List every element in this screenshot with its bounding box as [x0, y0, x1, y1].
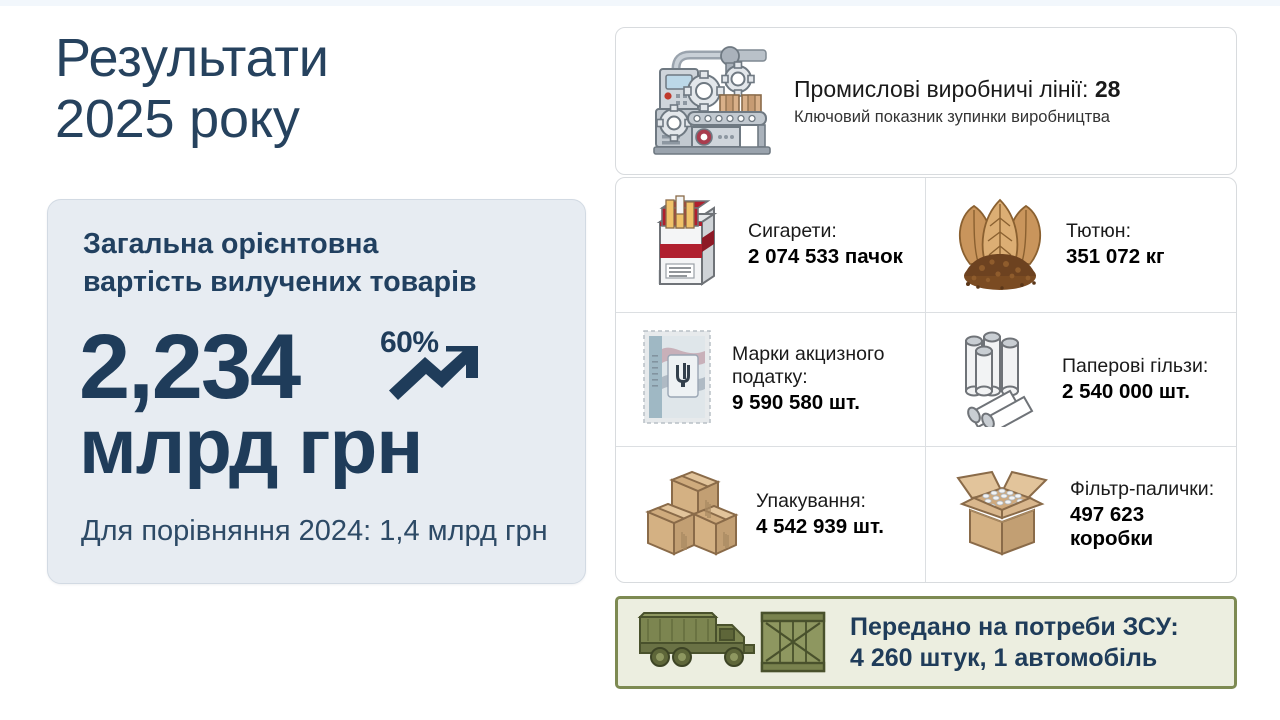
stat-label: Упакування:	[756, 490, 917, 513]
right-column: Промислові виробничі лінії: 28 Ключовий …	[613, 0, 1280, 720]
stat-label: Фільтр-палички:	[1070, 478, 1228, 501]
stat-text: Марки акцизного податку: 9 590 580 шт.	[732, 343, 925, 416]
stat-value: 4 542 939 шт.	[756, 515, 917, 540]
stat-label: Паперові гільзи:	[1062, 355, 1228, 378]
tobacco-leaf-icon	[948, 188, 1052, 301]
wooden-crate-icon	[762, 613, 824, 671]
stat-label: Сигарети:	[748, 220, 917, 243]
total-value-unit: млрд грн	[79, 406, 422, 486]
stat-text: Тютюн: 351 072 кг	[1066, 220, 1236, 270]
production-lines-subtitle: Ключовий показник зупинки виробництва	[794, 108, 1220, 128]
paper-tubes-icon	[948, 327, 1048, 432]
stat-cell-tobacco: Тютюн: 351 072 кг	[926, 178, 1236, 313]
production-lines-value: 28	[1095, 76, 1121, 102]
stat-text: Паперові гільзи: 2 540 000 шт.	[1062, 355, 1236, 405]
production-lines-card: Промислові виробничі лінії: 28 Ключовий …	[615, 27, 1237, 175]
stat-cell-cigarettes: Сигарети: 2 074 533 пачок	[616, 178, 926, 313]
army-donation-line1: Передано на потреби ЗСУ:	[850, 612, 1234, 643]
factory-production-line-icon	[646, 39, 774, 164]
stat-label: Тютюн:	[1066, 220, 1228, 243]
stat-label: Марки акцизного податку:	[732, 343, 917, 389]
stat-cell-excise-stamps: Марки акцизного податку: 9 590 580 шт.	[616, 313, 926, 448]
page-title: Результати 2025 року	[55, 28, 575, 150]
army-donation-line2: 4 260 штук, 1 автомобіль	[850, 643, 1234, 674]
value-card-title: Загальна орієнтовна вартість вилучених т…	[83, 226, 583, 301]
filter-sticks-box-icon	[948, 462, 1056, 567]
military-truck-icon	[640, 613, 754, 653]
army-donation-banner: Передано на потреби ЗСУ: 4 260 штук, 1 а…	[615, 596, 1237, 689]
stat-value: 351 072 кг	[1066, 245, 1228, 270]
stat-cell-paper-tubes: Паперові гільзи: 2 540 000 шт.	[926, 313, 1236, 448]
army-donation-text: Передано на потреби ЗСУ: 4 260 штук, 1 а…	[850, 612, 1234, 674]
trend-up-arrow-icon	[376, 338, 486, 410]
stat-text: Сигарети: 2 074 533 пачок	[748, 220, 925, 270]
stat-text: Фільтр-палички: 497 623 коробки	[1070, 478, 1236, 552]
stat-cell-filter-sticks: Фільтр-палички: 497 623 коробки	[926, 447, 1236, 582]
stat-cell-packaging: Упакування: 4 542 939 шт.	[616, 447, 926, 582]
stat-value: 9 590 580 шт.	[732, 391, 917, 416]
total-value-number: 2,234	[79, 322, 299, 412]
stat-value: 2 074 533 пачок	[748, 245, 917, 270]
stat-text: Упакування: 4 542 939 шт.	[756, 490, 925, 540]
production-lines-label: Промислові виробничі лінії:	[794, 76, 1095, 102]
cigarette-pack-icon	[638, 188, 734, 301]
comparison-note: Для порівняння 2024: 1,4 млрд грн	[81, 515, 548, 548]
stat-value: 2 540 000 шт.	[1062, 380, 1228, 405]
infographic-page: Результати 2025 року Загальна орієнтовна…	[0, 0, 1280, 720]
growth-badge: 60%	[376, 326, 486, 410]
army-icons	[634, 603, 834, 682]
big-number-row: 2,234 60%	[79, 322, 579, 412]
excise-stamp-icon	[638, 325, 718, 434]
left-column: Результати 2025 року Загальна орієнтовна…	[0, 0, 610, 720]
production-lines-text: Промислові виробничі лінії: 28 Ключовий …	[794, 75, 1236, 128]
total-value-card: Загальна орієнтовна вартість вилучених т…	[47, 199, 586, 584]
production-lines-title: Промислові виробничі лінії: 28	[794, 75, 1220, 103]
cardboard-boxes-icon	[638, 462, 742, 567]
seized-goods-grid: Сигарети: 2 074 533 пачок	[615, 177, 1237, 583]
stat-value: 497 623 коробки	[1070, 503, 1228, 552]
